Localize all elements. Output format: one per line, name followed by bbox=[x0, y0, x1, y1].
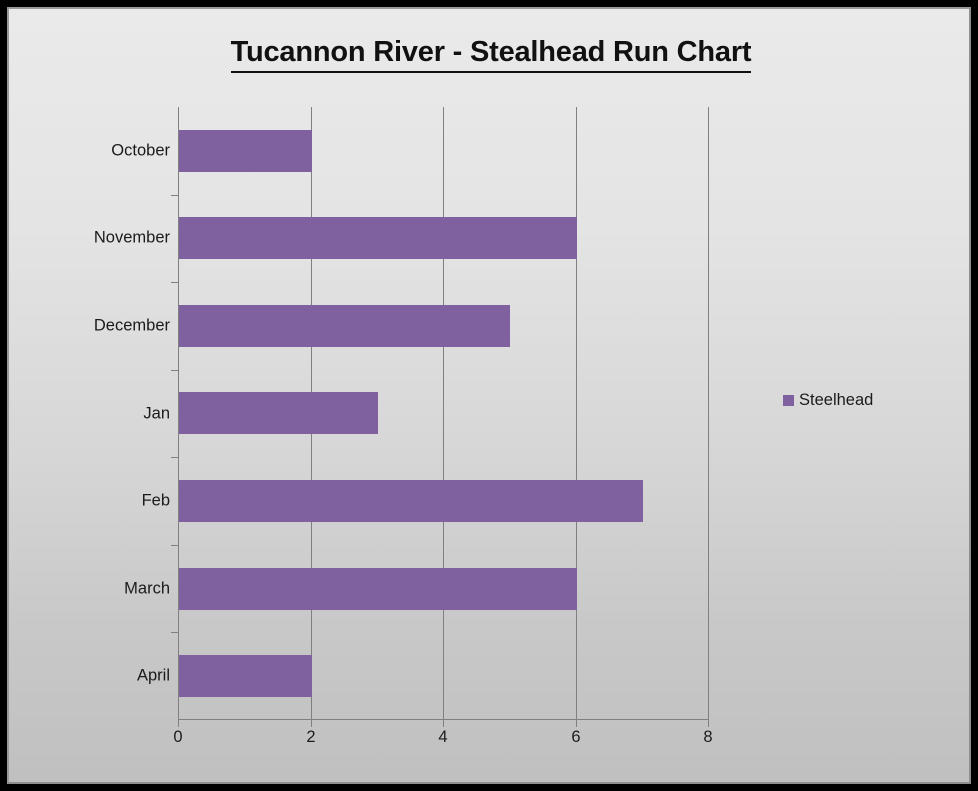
y-axis-label-feb: Feb bbox=[20, 492, 170, 511]
y-axis-label-december: December bbox=[20, 317, 170, 336]
x-axis-tick-4 bbox=[443, 720, 444, 727]
legend-swatch-steelhead bbox=[783, 395, 794, 406]
gridline-x-4 bbox=[443, 107, 444, 720]
legend: Steelhead bbox=[783, 391, 873, 410]
bar-april bbox=[179, 655, 312, 697]
bar-jan bbox=[179, 392, 378, 434]
x-axis-value-labels: 02468 bbox=[178, 728, 708, 758]
y-axis-label-april: April bbox=[20, 667, 170, 686]
chart-frame: Tucannon River - Stealhead Run Chart Oct… bbox=[0, 0, 978, 791]
chart-background: Tucannon River - Stealhead Run Chart Oct… bbox=[7, 7, 971, 784]
chart-title-text: Tucannon River - Stealhead Run Chart bbox=[231, 36, 752, 73]
x-axis-label-0: 0 bbox=[148, 728, 208, 747]
y-axis-tick-6 bbox=[171, 632, 178, 633]
x-axis-label-8: 8 bbox=[678, 728, 738, 747]
bar-october bbox=[179, 130, 312, 172]
bar-feb bbox=[179, 480, 643, 522]
x-axis-tick-2 bbox=[311, 720, 312, 727]
plot-area bbox=[178, 107, 708, 720]
legend-label-steelhead: Steelhead bbox=[799, 391, 873, 410]
y-axis-label-jan: Jan bbox=[20, 405, 170, 424]
y-axis-tick-3 bbox=[171, 370, 178, 371]
gridline-x-8 bbox=[708, 107, 709, 720]
y-axis-label-october: October bbox=[20, 142, 170, 161]
y-axis-tick-2 bbox=[171, 282, 178, 283]
y-axis-label-march: March bbox=[20, 580, 170, 599]
x-axis-label-6: 6 bbox=[546, 728, 606, 747]
y-axis-tick-1 bbox=[171, 195, 178, 196]
bar-march bbox=[179, 568, 577, 610]
y-axis-label-november: November bbox=[20, 229, 170, 248]
y-axis-category-labels: OctoberNovemberDecemberJanFebMarchApril bbox=[17, 107, 170, 720]
gridline-x-6 bbox=[576, 107, 577, 720]
x-axis-tick-6 bbox=[576, 720, 577, 727]
y-axis-tick-5 bbox=[171, 545, 178, 546]
bar-november bbox=[179, 217, 577, 259]
x-axis-label-4: 4 bbox=[413, 728, 473, 747]
x-axis-label-2: 2 bbox=[281, 728, 341, 747]
x-axis-tick-8 bbox=[708, 720, 709, 727]
chart-title: Tucannon River - Stealhead Run Chart bbox=[9, 36, 973, 69]
x-axis-tick-0 bbox=[178, 720, 179, 727]
y-axis-tick-4 bbox=[171, 457, 178, 458]
bar-december bbox=[179, 305, 510, 347]
